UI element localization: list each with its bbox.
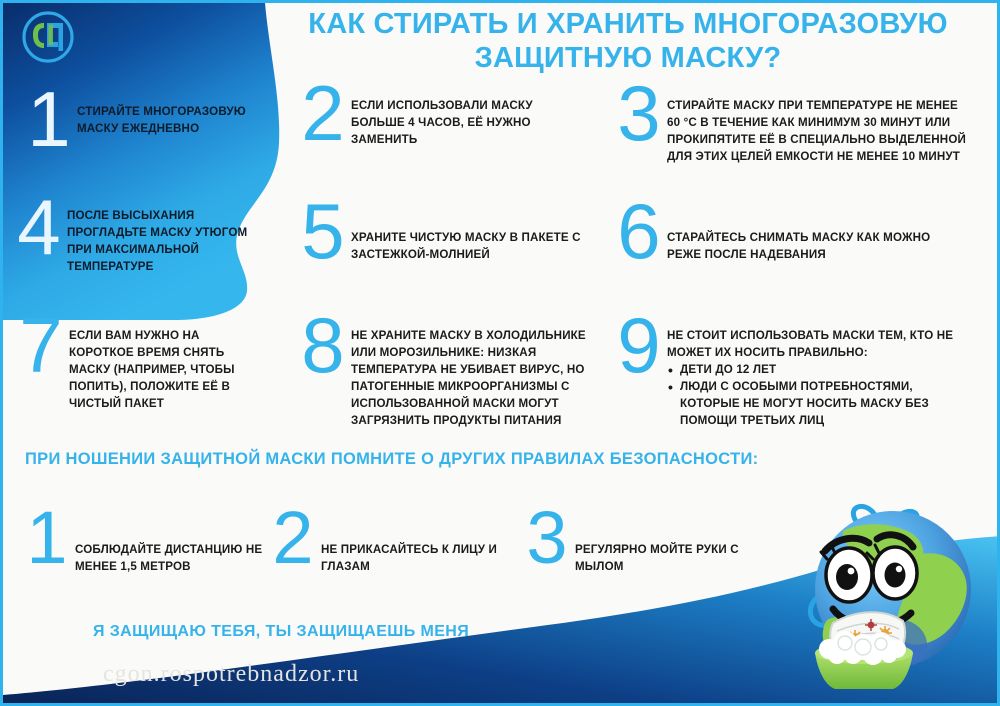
tip-item-7: 7 ЕСЛИ ВАМ НУЖНО НА КОРОТКОЕ ВРЕМЯ СНЯТЬ… — [13, 321, 278, 412]
safety-item-3: 3 РЕГУЛЯРНО МОЙТЕ РУКИ С МЫЛОМ — [519, 515, 769, 575]
safety-item-2: 2 НЕ ПРИКАСАЙТЕСЬ К ЛИЦУ И ГЛАЗАМ — [265, 515, 515, 575]
tip-text: ПОСЛЕ ВЫСЫХАНИЯ ПРОГЛАДЬТЕ МАСКУ УТЮГОМ … — [67, 203, 262, 275]
tip-number: 6 — [611, 201, 667, 262]
safety-number: 1 — [19, 509, 75, 567]
tip-text: СТАРАЙТЕСЬ СНИМАТЬ МАСКУ КАК МОЖНО РЕЖЕ … — [667, 207, 967, 263]
cgon-logo-icon — [20, 9, 76, 65]
tip-item-1: 1 СТИРАЙТЕ МНОГОРАЗОВУЮ МАСКУ ЕЖЕДНЕВНО — [21, 95, 271, 150]
organization-logo — [20, 9, 76, 65]
tip-item-9: 9 НЕ СТОИТ ИСПОЛЬЗОВАТЬ МАСКИ ТЕМ, КТО Н… — [611, 321, 996, 429]
tip-item-4: 4 ПОСЛЕ ВЫСЫХАНИЯ ПРОГЛАДЬТЕ МАСКУ УТЮГО… — [11, 203, 276, 275]
page-title: КАК СТИРАТЬ И ХРАНИТЬ МНОГОРАЗОВУЮ ЗАЩИТ… — [258, 7, 998, 75]
tip-text: СТИРАЙТЕ МАСКУ ПРИ ТЕМПЕРАТУРЕ НЕ МЕНЕЕ … — [667, 89, 967, 165]
safety-number: 2 — [265, 509, 321, 567]
safety-number: 3 — [519, 509, 575, 567]
tip-number: 8 — [295, 315, 351, 376]
tip-number: 9 — [611, 315, 667, 376]
watermark-url: cgon.rospotrebnadzor.ru — [103, 661, 359, 688]
tip-number: 1 — [21, 89, 77, 150]
tip-number: 2 — [295, 83, 351, 144]
tip-text: НЕ ХРАНИТЕ МАСКУ В ХОЛОДИЛЬНИКЕ ИЛИ МОРО… — [351, 321, 613, 429]
tip-bullet-list: ДЕТИ ДО 12 ЛЕТ ЛЮДИ С ОСОБЫМИ ПОТРЕБНОСТ… — [667, 361, 967, 429]
tip-bullet: ЛЮДИ С ОСОБЫМИ ПОТРЕБНОСТЯМИ, КОТОРЫЕ НЕ… — [667, 378, 967, 429]
tip-number: 3 — [611, 83, 667, 144]
tip-text: ЕСЛИ ИСПОЛЬЗОВАЛИ МАСКУ БОЛЬШЕ 4 ЧАСОВ, … — [351, 89, 581, 148]
safety-item-1: 1 СОБЛЮДАЙТЕ ДИСТАНЦИЮ НЕ МЕНЕЕ 1,5 МЕТР… — [19, 515, 269, 575]
earth-mascot-icon — [781, 497, 996, 697]
tip-text-intro: НЕ СТОИТ ИСПОЛЬЗОВАТЬ МАСКИ ТЕМ, КТО НЕ … — [667, 327, 967, 361]
tip-text: НЕ СТОИТ ИСПОЛЬЗОВАТЬ МАСКИ ТЕМ, КТО НЕ … — [667, 321, 967, 429]
tip-item-3: 3 СТИРАЙТЕ МАСКУ ПРИ ТЕМПЕРАТУРЕ НЕ МЕНЕ… — [611, 89, 991, 165]
tip-item-5: 5 ХРАНИТЕ ЧИСТУЮ МАСКУ В ПАКЕТЕ С ЗАСТЕЖ… — [295, 207, 605, 263]
title-line-1: КАК СТИРАТЬ И ХРАНИТЬ МНОГОРАЗОВУЮ — [308, 8, 947, 40]
tip-bullet: ДЕТИ ДО 12 ЛЕТ — [667, 361, 967, 378]
safety-text: СОБЛЮДАЙТЕ ДИСТАНЦИЮ НЕ МЕНЕЕ 1,5 МЕТРОВ — [75, 515, 265, 575]
safety-text: НЕ ПРИКАСАЙТЕСЬ К ЛИЦУ И ГЛАЗАМ — [321, 515, 506, 575]
tip-number: 4 — [11, 197, 67, 258]
tip-number: 7 — [13, 315, 69, 376]
slogan-text: Я ЗАЩИЩАЮ ТЕБЯ, ТЫ ЗАЩИЩАЕШЬ МЕНЯ — [93, 623, 469, 641]
earth-washing-mask-illustration — [781, 497, 996, 697]
tip-item-6: 6 СТАРАЙТЕСЬ СНИМАТЬ МАСКУ КАК МОЖНО РЕЖ… — [611, 207, 991, 263]
safety-text: РЕГУЛЯРНО МОЙТЕ РУКИ С МЫЛОМ — [575, 515, 760, 575]
tip-text: ЕСЛИ ВАМ НУЖНО НА КОРОТКОЕ ВРЕМЯ СНЯТЬ М… — [69, 321, 264, 412]
tip-number: 5 — [295, 201, 351, 262]
tip-text: СТИРАЙТЕ МНОГОРАЗОВУЮ МАСКУ ЕЖЕДНЕВНО — [77, 95, 267, 137]
tip-item-2: 2 ЕСЛИ ИСПОЛЬЗОВАЛИ МАСКУ БОЛЬШЕ 4 ЧАСОВ… — [295, 89, 595, 148]
section-heading: ПРИ НОШЕНИИ ЗАЩИТНОЙ МАСКИ ПОМНИТЕ О ДРУ… — [25, 450, 758, 469]
infographic-poster: КАК СТИРАТЬ И ХРАНИТЬ МНОГОРАЗОВУЮ ЗАЩИТ… — [0, 0, 1000, 706]
tip-text: ХРАНИТЕ ЧИСТУЮ МАСКУ В ПАКЕТЕ С ЗАСТЕЖКО… — [351, 207, 586, 263]
tip-item-8: 8 НЕ ХРАНИТЕ МАСКУ В ХОЛОДИЛЬНИКЕ ИЛИ МО… — [295, 321, 625, 429]
